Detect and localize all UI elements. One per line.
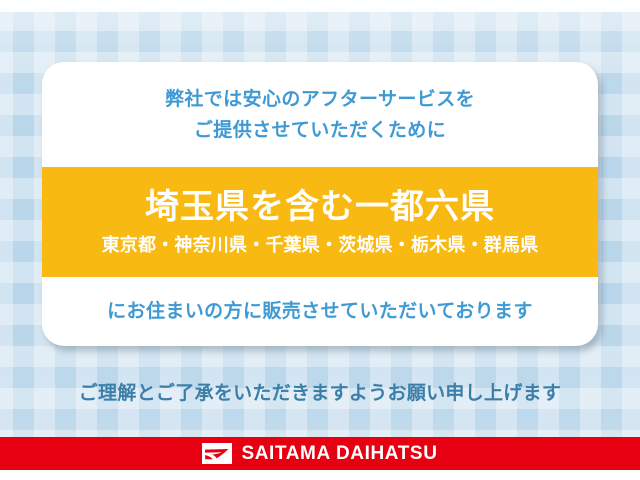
card-intro-section: 弊社では安心のアフターサービスを ご提供させていただくために xyxy=(42,62,598,167)
notice-card: 弊社では安心のアフターサービスを ご提供させていただくために 埼玉県を含む一都六… xyxy=(42,62,598,346)
request-caption: ご理解とご了承をいただきますようお願い申し上げます xyxy=(0,378,640,405)
brand-name: SAITAMA DAIHATSU xyxy=(241,443,437,465)
daihatsu-d-logo xyxy=(202,443,232,464)
top-white-strip xyxy=(0,0,640,12)
band-headline: 埼玉県を含む一都六県 xyxy=(145,185,495,229)
card-closing-section: にお住まいの方に販売させていただいております xyxy=(42,277,598,346)
band-prefecture-list: 東京都・神奈川県・千葉県・茨城県・栃木県・群馬県 xyxy=(102,231,539,259)
intro-line-2: ご提供させていただくために xyxy=(194,115,446,146)
brand-footer-bar: SAITAMA DAIHATSU xyxy=(0,437,640,470)
bottom-white-strip xyxy=(0,470,640,480)
closing-line: にお住まいの方に販売させていただいております xyxy=(107,296,533,327)
intro-line-1: 弊社では安心のアフターサービスを xyxy=(165,84,475,115)
brand-lockup: SAITAMA DAIHATSU xyxy=(202,443,437,465)
advertisement-banner: 弊社では安心のアフターサービスを ご提供させていただくために 埼玉県を含む一都六… xyxy=(0,0,640,480)
yellow-highlight-band: 埼玉県を含む一都六県 東京都・神奈川県・千葉県・茨城県・栃木県・群馬県 xyxy=(42,167,598,277)
